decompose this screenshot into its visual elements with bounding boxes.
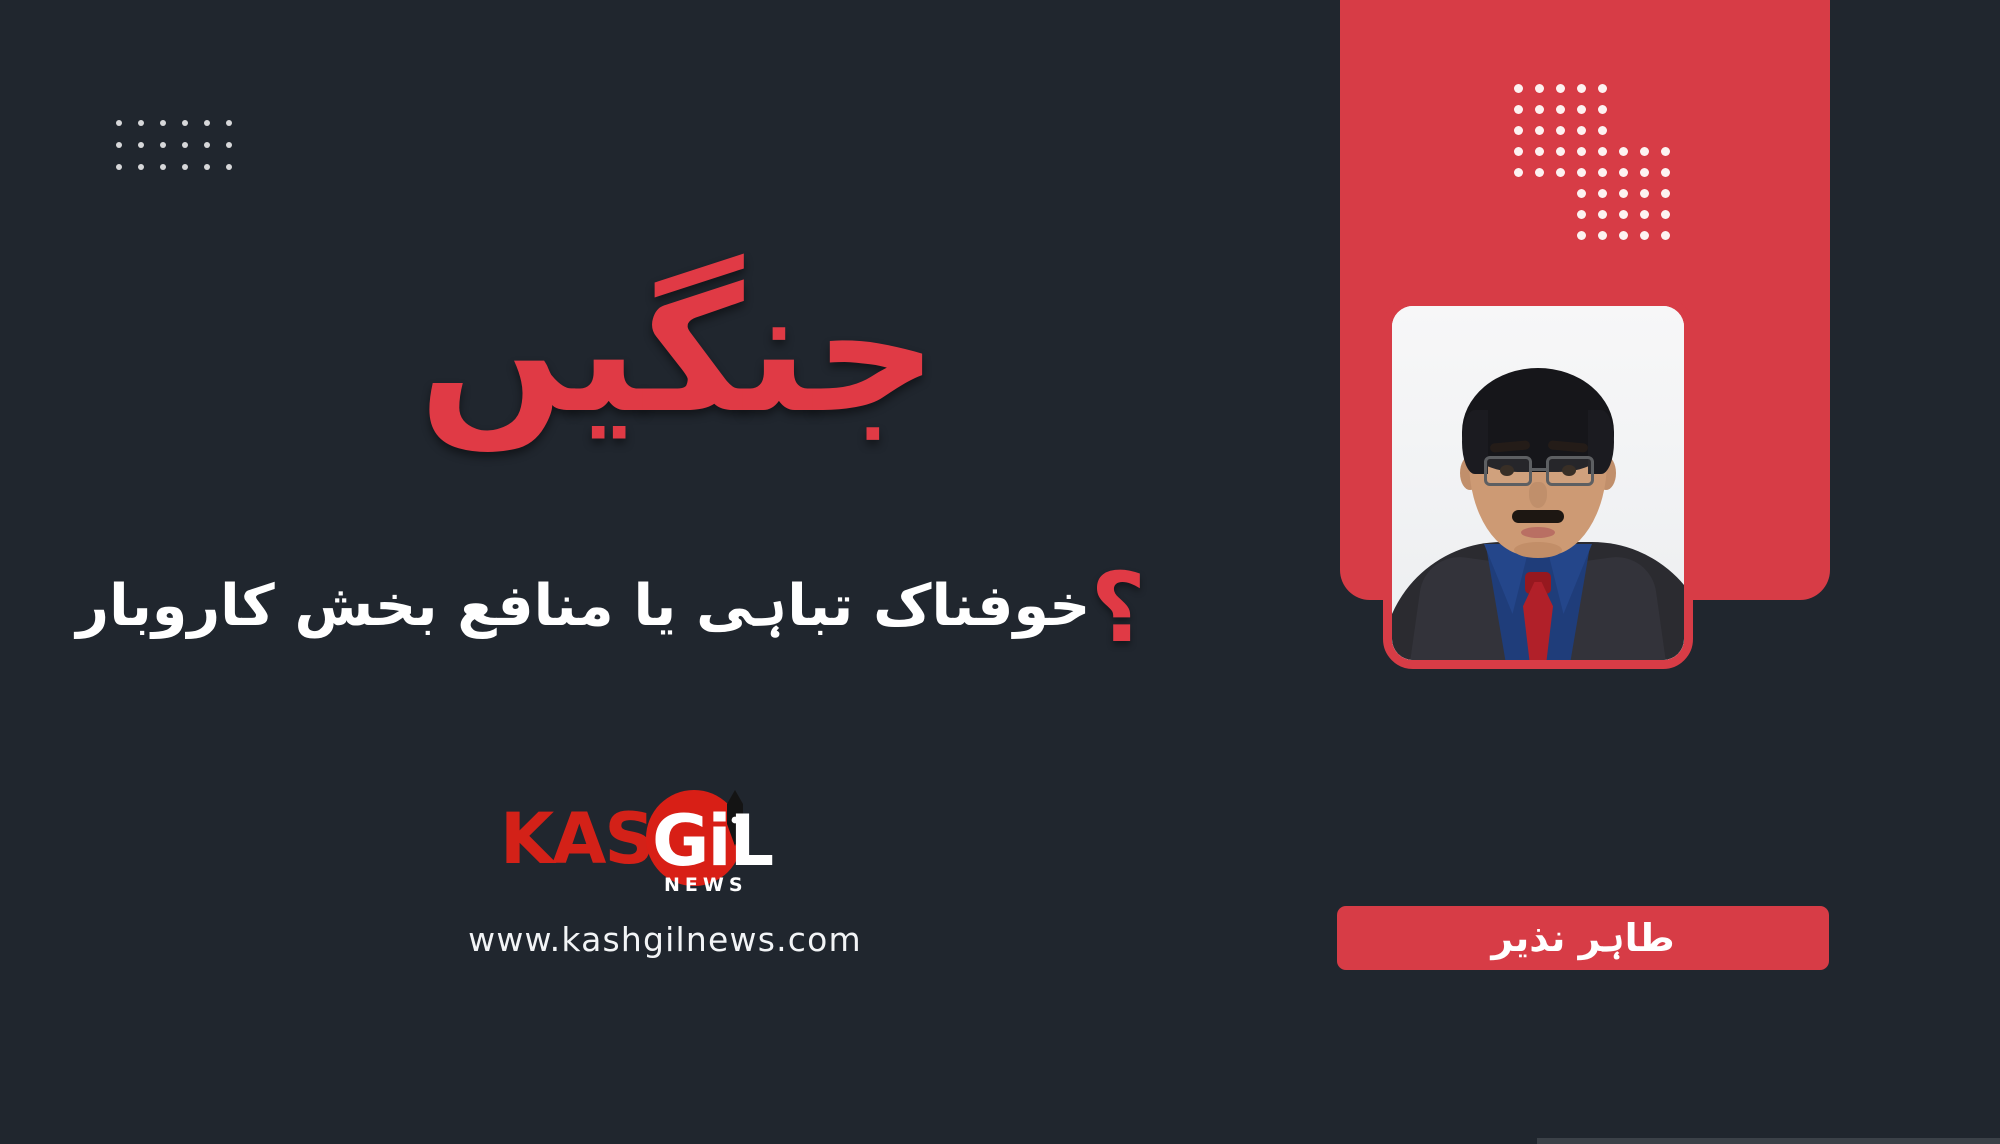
photo-glasses-lens-left	[1484, 456, 1532, 486]
question-mark: ؟	[1090, 552, 1146, 664]
photo-nose	[1529, 482, 1547, 508]
dot	[1598, 168, 1607, 177]
dot	[1661, 147, 1670, 156]
dot	[1514, 231, 1523, 240]
subheading-text: خوفناک تباہی یا منافع بخش کاروبار	[76, 573, 1090, 639]
dot	[1640, 105, 1649, 114]
dot	[1514, 147, 1523, 156]
photo-chin	[1514, 542, 1562, 558]
dot	[1535, 105, 1544, 114]
dot	[1661, 189, 1670, 198]
dot	[1619, 168, 1628, 177]
dot	[1640, 126, 1649, 135]
dot	[1661, 231, 1670, 240]
dot	[1661, 84, 1670, 93]
logo-wordmark-secondary: GiL	[652, 806, 772, 876]
dot	[1535, 168, 1544, 177]
dot	[1619, 84, 1628, 93]
dot	[1514, 84, 1523, 93]
dot	[1514, 105, 1523, 114]
author-photo-frame	[1383, 297, 1693, 669]
website-url[interactable]: www.kashgilnews.com	[0, 920, 1330, 959]
dot	[1556, 84, 1565, 93]
dot	[1556, 126, 1565, 135]
dot	[1661, 105, 1670, 114]
dot	[1598, 105, 1607, 114]
decorative-dot-pattern-panel	[1508, 78, 1676, 246]
dot	[1556, 231, 1565, 240]
dot	[1640, 231, 1649, 240]
dot	[1556, 168, 1565, 177]
dot	[1640, 147, 1649, 156]
dot	[1556, 105, 1565, 114]
dot	[1577, 168, 1586, 177]
author-name-bar: طاہر نذیر	[1337, 906, 1829, 970]
dot	[1619, 126, 1628, 135]
dot	[1535, 231, 1544, 240]
dot	[1598, 210, 1607, 219]
dot	[1514, 189, 1523, 198]
author-name: طاہر نذیر	[1491, 916, 1674, 960]
bottom-divider	[1537, 1138, 2000, 1144]
dot	[1535, 126, 1544, 135]
kashgil-news-logo[interactable]: KASH GiL NEWS	[500, 782, 820, 892]
dot	[1598, 126, 1607, 135]
subheading: ؟خوفناک تباہی یا منافع بخش کاروبار	[0, 552, 1160, 664]
dot	[1535, 147, 1544, 156]
photo-moustache	[1512, 510, 1564, 523]
dot	[1661, 210, 1670, 219]
dot	[1577, 126, 1586, 135]
logo-tagline: NEWS	[664, 874, 748, 896]
dot	[1514, 210, 1523, 219]
dot	[1598, 231, 1607, 240]
dot	[1577, 84, 1586, 93]
photo-mouth	[1521, 527, 1555, 538]
dot	[1619, 210, 1628, 219]
dot	[1556, 147, 1565, 156]
dot	[1619, 231, 1628, 240]
content-column-left: جنگیں ؟خوفناک تباہی یا منافع بخش کاروبار…	[0, 0, 1330, 1144]
dot	[1514, 168, 1523, 177]
photo-glasses-bridge	[1532, 468, 1546, 471]
dot	[1661, 168, 1670, 177]
dot	[1556, 210, 1565, 219]
dot	[1640, 210, 1649, 219]
dot	[1598, 189, 1607, 198]
dot	[1535, 84, 1544, 93]
dot	[1598, 147, 1607, 156]
dot	[1640, 189, 1649, 198]
dot	[1577, 231, 1586, 240]
dot	[1619, 105, 1628, 114]
dot	[1577, 147, 1586, 156]
dot	[1598, 84, 1607, 93]
dot	[1661, 126, 1670, 135]
dot	[1640, 168, 1649, 177]
photo-glasses-lens-right	[1546, 456, 1594, 486]
dot	[1556, 189, 1565, 198]
dot	[1640, 84, 1649, 93]
avatar	[1392, 306, 1684, 660]
dot	[1577, 210, 1586, 219]
dot	[1577, 189, 1586, 198]
dot	[1619, 147, 1628, 156]
dot	[1535, 189, 1544, 198]
dot	[1535, 210, 1544, 219]
page-title: جنگیں	[158, 262, 938, 441]
dot	[1514, 126, 1523, 135]
dot	[1619, 189, 1628, 198]
dot	[1577, 105, 1586, 114]
news-graphic-card: جنگیں ؟خوفناک تباہی یا منافع بخش کاروبار…	[0, 0, 2000, 1144]
